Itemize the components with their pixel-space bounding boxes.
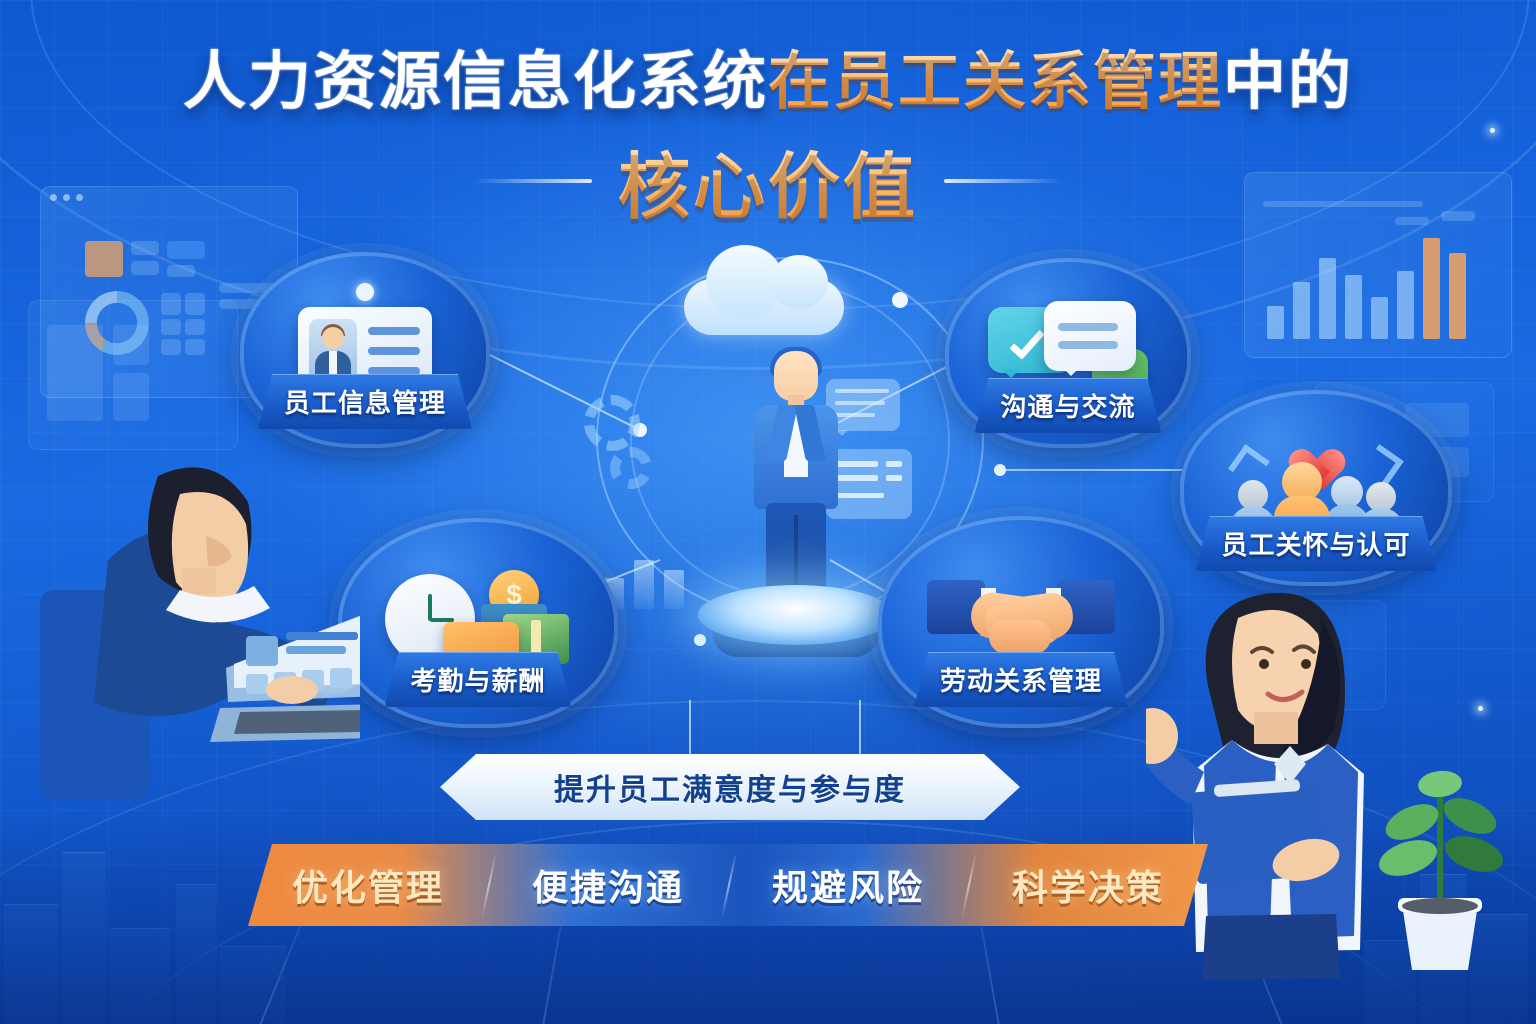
potted-plant (1378, 726, 1518, 976)
title-segment-white-tail: 中的 (1223, 47, 1353, 117)
node-label-communication: 沟通与交流 (974, 378, 1161, 433)
title-line-2: 核心价值 (618, 128, 918, 233)
poster-title: 人力资源信息化系统在员工关系管理中的 核心价值 (0, 48, 1536, 233)
node-communication[interactable]: 沟通与交流 (945, 258, 1191, 448)
bottom-benefit-banner: 优化管理 便捷沟通 规避风险 科学决策 (248, 844, 1208, 926)
title-line-1: 人力资源信息化系统在员工关系管理中的 (0, 48, 1536, 116)
hologram-platform (698, 585, 894, 645)
cloud-icon (684, 279, 844, 335)
benefit-segment-3[interactable]: 规避风险 (728, 844, 968, 926)
benefit-segment-1[interactable]: 优化管理 (248, 844, 488, 926)
node-label-attendance-pay: 考勤与薪酬 (384, 652, 571, 707)
background-panel (28, 300, 238, 450)
infographic-poster: 人力资源信息化系统在员工关系管理中的 核心价值 (0, 0, 1536, 1024)
title-segment-white: 人力资源信息化系统 (183, 47, 768, 117)
hr-officer-at-laptop (30, 440, 360, 800)
node-attendance-pay[interactable]: $ 考勤与薪酬 (338, 518, 618, 728)
pin-icon (356, 283, 374, 301)
ribbon-text: 提升员工满意度与参与度 (554, 765, 906, 809)
node-employee-info[interactable]: 员工信息管理 (240, 252, 490, 448)
node-label-labor-relations: 劳动关系管理 (914, 652, 1128, 707)
title-rule-left (474, 179, 592, 183)
benefit-segment-2[interactable]: 便捷沟通 (488, 844, 728, 926)
employee-avatar (740, 351, 852, 601)
node-label-employee-info: 员工信息管理 (258, 374, 472, 429)
background-bar-chart (1267, 229, 1466, 339)
node-labor-relations[interactable]: 劳动关系管理 (878, 516, 1164, 728)
node-care-recognition[interactable]: 员工关怀与认可 (1180, 390, 1452, 586)
title-segment-orange: 在员工关系管理 (768, 47, 1223, 117)
benefit-segment-4[interactable]: 科学决策 (968, 844, 1208, 926)
title-rule-right (944, 179, 1062, 183)
ribbon-banner: 提升员工满意度与参与度 (440, 754, 1020, 820)
